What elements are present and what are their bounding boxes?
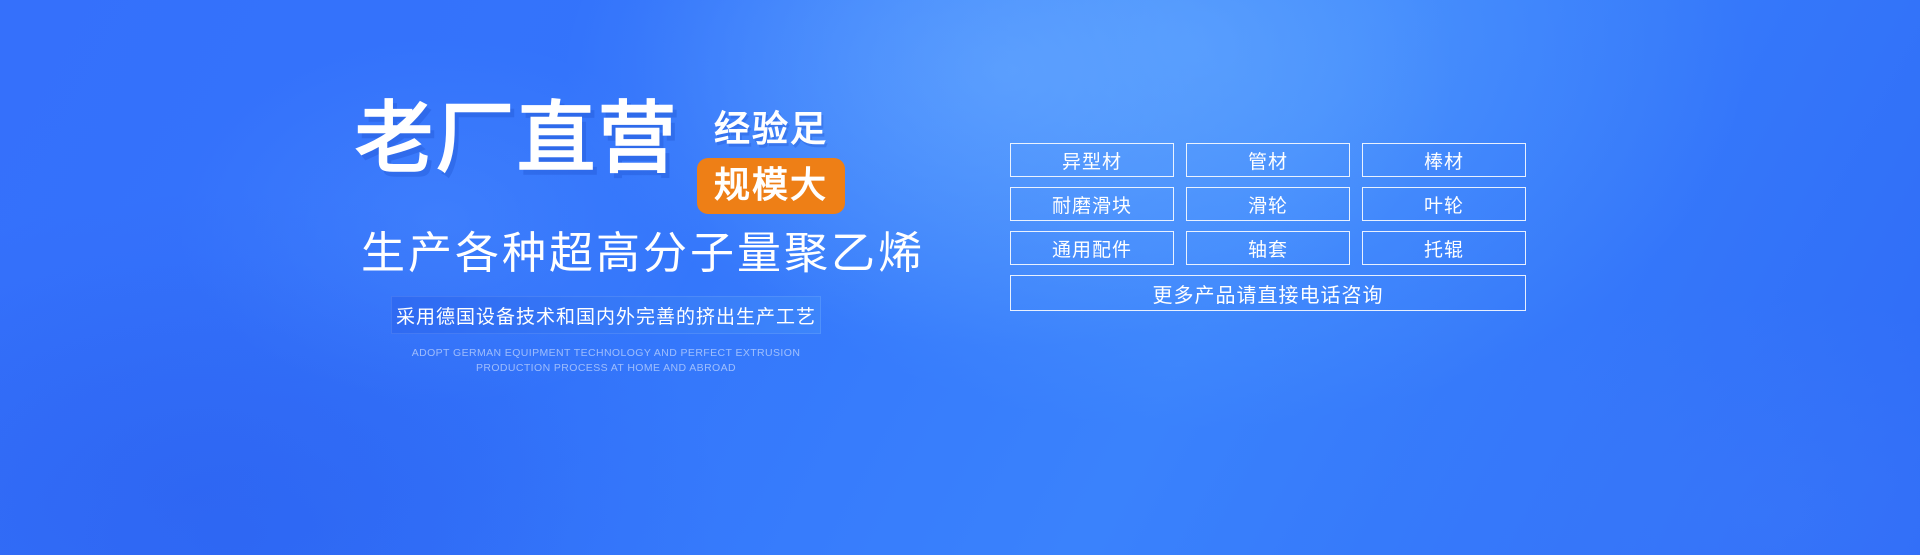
english-tagline: ADOPT GERMAN EQUIPMENT TECHNOLOGY AND PE… [391, 346, 821, 376]
ribbon-text: 采用德国设备技术和国内外完善的挤出生产工艺 [396, 302, 816, 329]
cta-button-contact[interactable]: 更多产品请直接电话咨询 [1010, 275, 1526, 311]
badge-experience: 经验足 [714, 108, 828, 150]
english-tagline-line-2: PRODUCTION PROCESS AT HOME AND ABROAD [391, 361, 821, 376]
category-button-bangcai[interactable]: 棒材 [1362, 143, 1526, 177]
ribbon-bar: 采用德国设备技术和国内外完善的挤出生产工艺 [391, 296, 821, 334]
subtitle: 生产各种超高分子量聚乙烯 [361, 228, 955, 280]
headline-block: 老厂直营 经验足 规模大 生产各种超高分子量聚乙烯 采用德国设备技术和国内外完善… [355, 96, 955, 376]
badge-scale: 规模大 [697, 158, 845, 214]
promo-banner: 老厂直营 经验足 规模大 生产各种超高分子量聚乙烯 采用德国设备技术和国内外完善… [0, 0, 1920, 555]
headline-main: 老厂直营 [355, 96, 679, 180]
category-button-zhoutao[interactable]: 轴套 [1186, 231, 1350, 265]
category-button-yixingcai[interactable]: 异型材 [1010, 143, 1174, 177]
category-row-1: 异型材 管材 棒材 [1010, 143, 1526, 177]
headline-row: 老厂直营 经验足 规模大 [355, 96, 955, 214]
category-row-3: 通用配件 轴套 托辊 [1010, 231, 1526, 265]
cta-row: 更多产品请直接电话咨询 [1010, 275, 1526, 311]
category-button-tuogun[interactable]: 托辊 [1362, 231, 1526, 265]
category-button-tongyongpeijian[interactable]: 通用配件 [1010, 231, 1174, 265]
category-row-2: 耐磨滑块 滑轮 叶轮 [1010, 187, 1526, 221]
category-button-naimohuakuai[interactable]: 耐磨滑块 [1010, 187, 1174, 221]
background-glow-right [1380, 300, 1920, 555]
category-button-grid: 异型材 管材 棒材 耐磨滑块 滑轮 叶轮 通用配件 轴套 托辊 更多产品请直接电… [1010, 143, 1526, 321]
category-button-guancai[interactable]: 管材 [1186, 143, 1350, 177]
category-button-hualun[interactable]: 滑轮 [1186, 187, 1350, 221]
category-button-yelun[interactable]: 叶轮 [1362, 187, 1526, 221]
english-tagline-line-1: ADOPT GERMAN EQUIPMENT TECHNOLOGY AND PE… [391, 346, 821, 361]
headline-tag-group: 经验足 规模大 [697, 96, 845, 214]
